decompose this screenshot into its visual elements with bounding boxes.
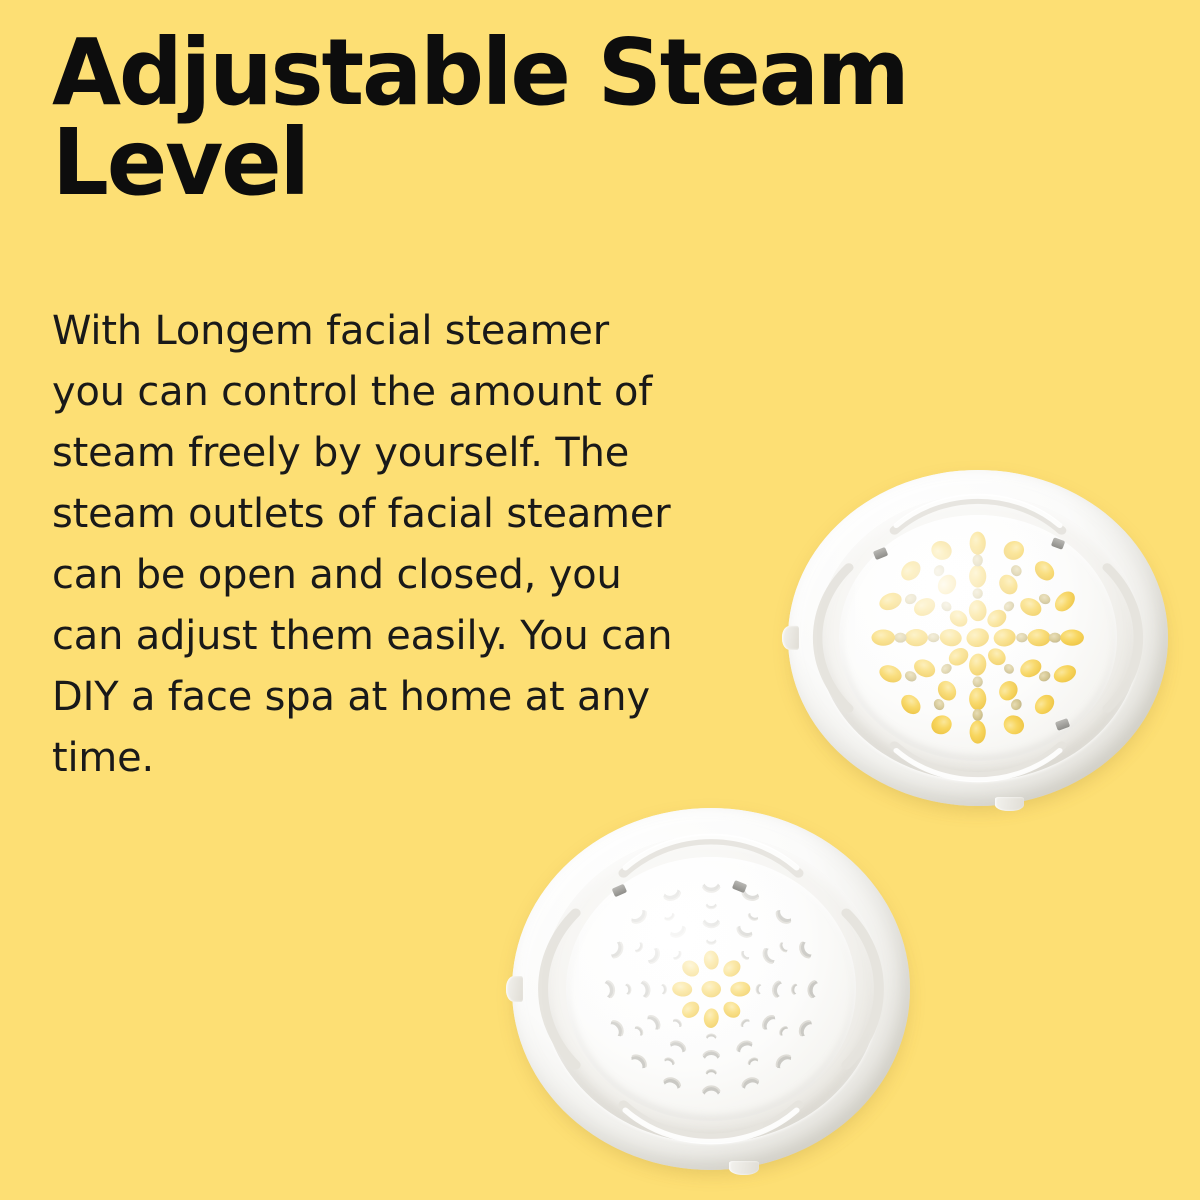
open-hole-rosette xyxy=(671,950,751,1029)
bottom-tab-nub xyxy=(995,797,1024,810)
side-tab-nub xyxy=(782,626,799,650)
page-title: Adjustable Steam Level xyxy=(52,28,1003,208)
product-image-steam-cap-closed xyxy=(512,808,910,1170)
description-paragraph: With Longem facial steamer you can contr… xyxy=(52,300,682,788)
side-tab-nub xyxy=(506,976,524,1002)
product-image-steam-cap-open xyxy=(788,470,1168,806)
hole-ring-center xyxy=(965,627,991,650)
promo-canvas: Adjustable Steam Level With Longem facia… xyxy=(0,0,1200,1200)
perforated-plate-closed xyxy=(566,857,857,1121)
bottom-tab-nub xyxy=(729,1161,759,1175)
